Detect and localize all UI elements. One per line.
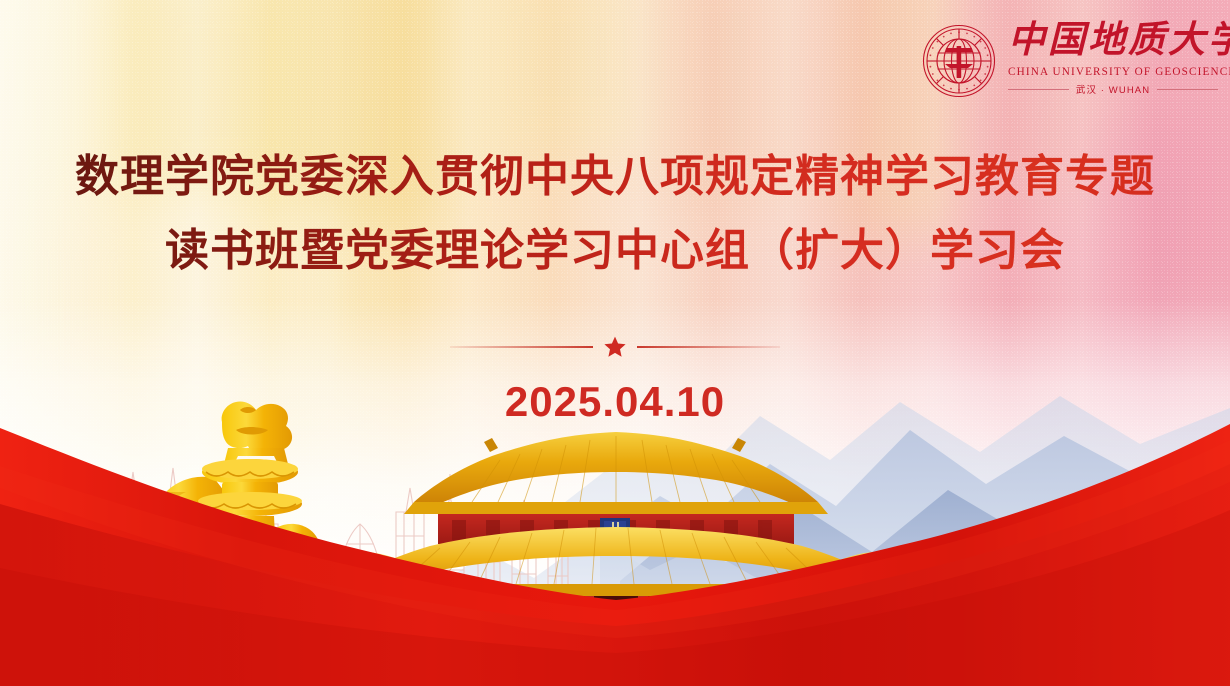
- university-campus-line: 武汉 · WUHAN: [1008, 82, 1218, 96]
- divider-rule-left: [450, 346, 593, 348]
- divider-rule-right: [637, 346, 780, 348]
- campus-rule-right: [1157, 89, 1218, 90]
- poster-title: 数理学院党委深入贯彻中央八项规定精神学习教育专题 读书班暨党委理论学习中心组（扩…: [0, 140, 1230, 288]
- university-logo[interactable]: 中国地质大学 CHINA UNIVERSITY OF GEOSCIENCES 武…: [922, 18, 1218, 106]
- campus-rule-left: [1008, 89, 1069, 90]
- title-line-1: 数理学院党委深入贯彻中央八项规定精神学习教育专题: [0, 140, 1230, 214]
- university-name-en: CHINA UNIVERSITY OF GEOSCIENCES: [1008, 66, 1218, 78]
- university-name-cn: 中国地质大学: [1008, 18, 1218, 64]
- university-wordmark: 中国地质大学 CHINA UNIVERSITY OF GEOSCIENCES 武…: [1008, 18, 1218, 96]
- five-pointed-star-icon: [602, 334, 628, 360]
- poster-canvas: 中国地质大学 CHINA UNIVERSITY OF GEOSCIENCES 武…: [0, 0, 1230, 686]
- star-divider: [450, 332, 780, 362]
- title-line-2: 读书班暨党委理论学习中心组（扩大）学习会: [0, 214, 1230, 288]
- university-campus: 武汉 · WUHAN: [1076, 82, 1150, 96]
- cug-seal-emblem-icon: [922, 24, 996, 98]
- event-date: 2025.04.10: [0, 378, 1230, 426]
